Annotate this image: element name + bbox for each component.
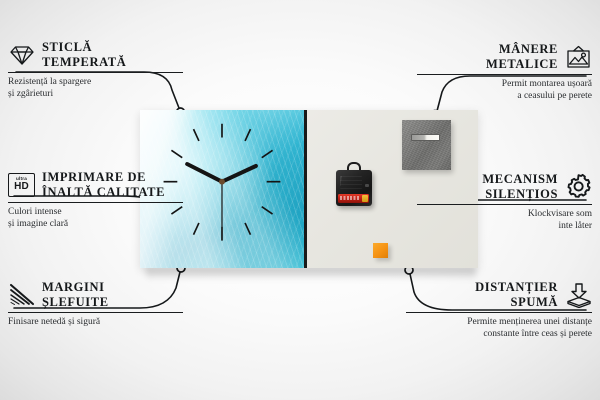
hands-hub <box>219 179 225 185</box>
foam-spacer-pad <box>373 243 388 258</box>
feature-foam-spacer: DISTANȚIER SPUMĂ Permite menținerea unei… <box>406 280 592 341</box>
hour-hand <box>222 166 256 182</box>
feature-subtitle: Rezistență la spargere și zgârieturi <box>8 76 183 101</box>
feature-tempered-glass: STICLĂ TEMPERATĂ Rezistență la spargere … <box>8 40 183 101</box>
feature-divider <box>417 204 592 205</box>
feature-header: STICLĂ TEMPERATĂ <box>8 40 183 69</box>
polished-edge-icon <box>8 281 35 308</box>
feature-divider <box>417 74 592 75</box>
mechanism-knob <box>365 184 369 187</box>
feature-subtitle: Finisare netedă și sigură <box>8 316 183 328</box>
infographic-canvas: STICLĂ TEMPERATĂ Rezistență la spargere … <box>0 0 600 400</box>
mechanism-body <box>336 170 372 206</box>
feature-divider <box>8 312 183 313</box>
press-down-pad-icon <box>565 281 592 308</box>
wall-mount-frame-icon <box>565 43 592 70</box>
battery <box>338 194 369 203</box>
feature-title: STICLĂ TEMPERATĂ <box>42 40 126 69</box>
feature-header: MARGINI ȘLEFUITE <box>8 280 183 309</box>
metal-hanger-plate <box>402 120 451 170</box>
battery-label <box>340 196 360 200</box>
diamond-icon <box>8 41 35 68</box>
feature-subtitle: Klockvisare som inte låter <box>417 208 592 233</box>
feature-divider <box>8 72 183 73</box>
feature-high-quality-print: ultra HD IMPRIMARE DE ÎNALTĂ CALITATE Cu… <box>8 170 183 231</box>
ultra-hd-badge: ultra HD <box>8 173 35 197</box>
feature-header: MÂNERE METALICE <box>417 42 592 71</box>
feature-silent-mechanism: MECANISM SILENȚIOS Klockvisare som inte … <box>417 172 592 233</box>
feature-header: ultra HD IMPRIMARE DE ÎNALTĂ CALITATE <box>8 170 183 199</box>
clock-mechanism <box>336 167 372 206</box>
feature-header: DISTANȚIER SPUMĂ <box>406 280 592 309</box>
feature-divider <box>8 202 183 203</box>
minute-hand <box>187 164 222 182</box>
feature-subtitle: Permite menținerea unei distanțe constan… <box>406 316 592 341</box>
feature-title: MÂNERE METALICE <box>486 42 558 71</box>
battery-positive-tip <box>362 195 368 202</box>
metal-texture <box>402 120 451 170</box>
mechanism-label <box>340 176 362 189</box>
feature-polished-edges: MARGINI ȘLEFUITE Finisare netedă și sigu… <box>8 280 183 328</box>
feature-title: IMPRIMARE DE ÎNALTĂ CALITATE <box>42 170 165 199</box>
ultra-hd-icon: ultra HD <box>8 171 35 198</box>
ultra-hd-large-text: HD <box>14 182 29 192</box>
feature-header: MECANISM SILENȚIOS <box>417 172 592 201</box>
feature-title: MECANISM SILENȚIOS <box>482 172 558 201</box>
feature-title: MARGINI ȘLEFUITE <box>42 280 109 309</box>
feature-divider <box>406 312 592 313</box>
hanger-slot <box>411 134 440 141</box>
gear-icon <box>565 173 592 200</box>
feature-subtitle: Permit montarea ușoară a ceasului pe per… <box>417 78 592 103</box>
feature-metal-handles: MÂNERE METALICE Permit montarea ușoară a… <box>417 42 592 103</box>
feature-title: DISTANȚIER SPUMĂ <box>475 280 558 309</box>
feature-subtitle: Culori intense și imagine clară <box>8 206 183 231</box>
